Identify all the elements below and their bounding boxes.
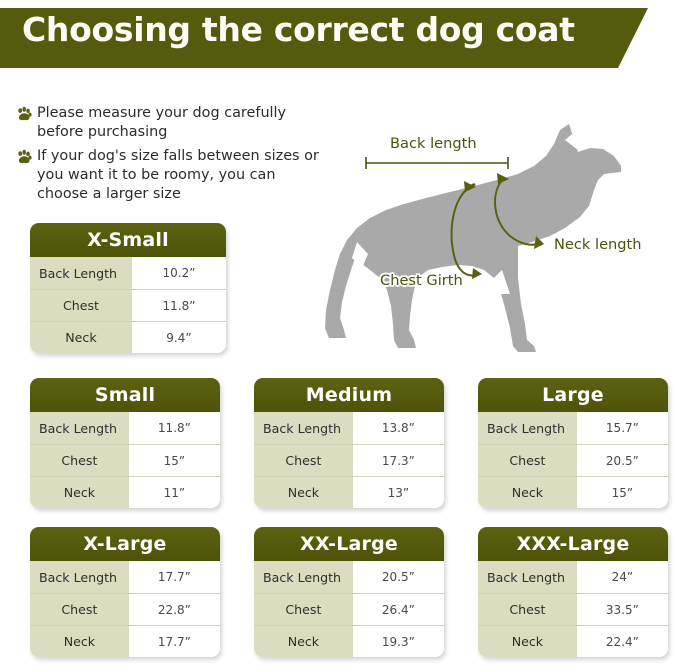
page-title: Choosing the correct dog coat [22, 10, 575, 49]
size-table-xlarge: X-Large Back Length 17.7” Chest 22.8” Ne… [30, 527, 220, 657]
row-value-back-length: 24” [577, 561, 668, 593]
table-row: Chest 33.5” [478, 593, 668, 625]
note-text: If your dog's size falls between sizes o… [37, 147, 326, 204]
back-length-measure-bar [366, 157, 508, 169]
size-table-title: X-Large [30, 527, 220, 561]
back-length-label: Back length [390, 135, 477, 152]
size-table-body: Back Length 20.5” Chest 26.4” Neck 19.3” [254, 561, 444, 657]
row-label-back-length: Back Length [30, 257, 132, 289]
dog-measurement-diagram: Back length Neck length Chest Girth [322, 118, 679, 366]
row-value-neck: 13” [353, 476, 444, 508]
neck-length-label: Neck length [554, 236, 642, 253]
paw-print-icon [16, 106, 32, 122]
notes-list: Please measure your dog carefully before… [16, 104, 326, 209]
table-row: Back Length 13.8” [254, 412, 444, 444]
table-row: Back Length 15.7” [478, 412, 668, 444]
table-row: Back Length 10.2” [30, 257, 226, 289]
table-row: Chest 17.3” [254, 444, 444, 476]
chest-girth-label: Chest Girth [380, 272, 463, 289]
size-table-title: X-Small [30, 223, 226, 257]
row-value-back-length: 20.5” [353, 561, 444, 593]
row-value-neck: 22.4” [577, 625, 668, 657]
size-table-body: Back Length 15.7” Chest 20.5” Neck 15” [478, 412, 668, 508]
note-text: Please measure your dog carefully before… [37, 104, 326, 142]
row-label-chest: Chest [254, 593, 353, 625]
table-row: Chest 11.8” [30, 289, 226, 321]
table-row: Chest 22.8” [30, 593, 220, 625]
size-table-body: Back Length 17.7” Chest 22.8” Neck 17.7” [30, 561, 220, 657]
row-label-chest: Chest [30, 444, 129, 476]
size-table-title: Medium [254, 378, 444, 412]
row-value-back-length: 10.2” [132, 257, 226, 289]
note-item: Please measure your dog carefully before… [16, 104, 326, 142]
row-value-chest: 17.3” [353, 444, 444, 476]
note-item: If your dog's size falls between sizes o… [16, 147, 326, 204]
row-value-neck: 11” [129, 476, 220, 508]
row-label-neck: Neck [478, 625, 577, 657]
size-table-title: Small [30, 378, 220, 412]
table-row: Neck 11” [30, 476, 220, 508]
size-table-medium: Medium Back Length 13.8” Chest 17.3” Nec… [254, 378, 444, 508]
size-table-body: Back Length 13.8” Chest 17.3” Neck 13” [254, 412, 444, 508]
row-label-neck: Neck [30, 321, 132, 353]
size-table-title: XX-Large [254, 527, 444, 561]
table-row: Chest 20.5” [478, 444, 668, 476]
row-value-back-length: 17.7” [129, 561, 220, 593]
size-table-xxlarge: XX-Large Back Length 20.5” Chest 26.4” N… [254, 527, 444, 657]
size-table-body: Back Length 10.2” Chest 11.8” Neck 9.4” [30, 257, 226, 353]
table-row: Back Length 20.5” [254, 561, 444, 593]
row-label-back-length: Back Length [478, 561, 577, 593]
row-label-chest: Chest [478, 444, 577, 476]
table-row: Back Length 17.7” [30, 561, 220, 593]
table-row: Back Length 11.8” [30, 412, 220, 444]
size-table-xsmall: X-Small Back Length 10.2” Chest 11.8” Ne… [30, 223, 226, 353]
table-row: Neck 19.3” [254, 625, 444, 657]
chest-girth-arrow-bottom [472, 268, 482, 279]
row-label-back-length: Back Length [254, 561, 353, 593]
row-label-neck: Neck [30, 625, 129, 657]
table-row: Back Length 24” [478, 561, 668, 593]
row-value-chest: 26.4” [353, 593, 444, 625]
table-row: Neck 13” [254, 476, 444, 508]
row-value-neck: 17.7” [129, 625, 220, 657]
size-table-title: Large [478, 378, 668, 412]
row-label-neck: Neck [254, 476, 353, 508]
size-table-large: Large Back Length 15.7” Chest 20.5” Neck… [478, 378, 668, 508]
row-value-back-length: 11.8” [129, 412, 220, 444]
row-value-neck: 19.3” [353, 625, 444, 657]
row-value-chest: 20.5” [577, 444, 668, 476]
row-label-back-length: Back Length [478, 412, 577, 444]
table-row: Neck 9.4” [30, 321, 226, 353]
table-row: Neck 15” [478, 476, 668, 508]
row-label-neck: Neck [478, 476, 577, 508]
paw-print-icon [16, 149, 32, 165]
row-value-neck: 15” [577, 476, 668, 508]
size-table-small: Small Back Length 11.8” Chest 15” Neck 1… [30, 378, 220, 508]
row-label-chest: Chest [30, 289, 132, 321]
size-table-body: Back Length 11.8” Chest 15” Neck 11” [30, 412, 220, 508]
table-row: Neck 22.4” [478, 625, 668, 657]
row-label-neck: Neck [30, 476, 129, 508]
row-label-chest: Chest [478, 593, 577, 625]
size-table-body: Back Length 24” Chest 33.5” Neck 22.4” [478, 561, 668, 657]
row-value-chest: 22.8” [129, 593, 220, 625]
row-value-chest: 11.8” [132, 289, 226, 321]
row-value-chest: 15” [129, 444, 220, 476]
row-label-back-length: Back Length [254, 412, 353, 444]
row-value-neck: 9.4” [132, 321, 226, 353]
table-row: Chest 26.4” [254, 593, 444, 625]
row-label-chest: Chest [30, 593, 129, 625]
row-label-neck: Neck [254, 625, 353, 657]
size-table-title: XXX-Large [478, 527, 668, 561]
row-label-chest: Chest [254, 444, 353, 476]
row-value-back-length: 13.8” [353, 412, 444, 444]
row-label-back-length: Back Length [30, 412, 129, 444]
row-value-back-length: 15.7” [577, 412, 668, 444]
size-table-xxxlarge: XXX-Large Back Length 24” Chest 33.5” Ne… [478, 527, 668, 657]
table-row: Neck 17.7” [30, 625, 220, 657]
row-label-back-length: Back Length [30, 561, 129, 593]
row-value-chest: 33.5” [577, 593, 668, 625]
table-row: Chest 15” [30, 444, 220, 476]
